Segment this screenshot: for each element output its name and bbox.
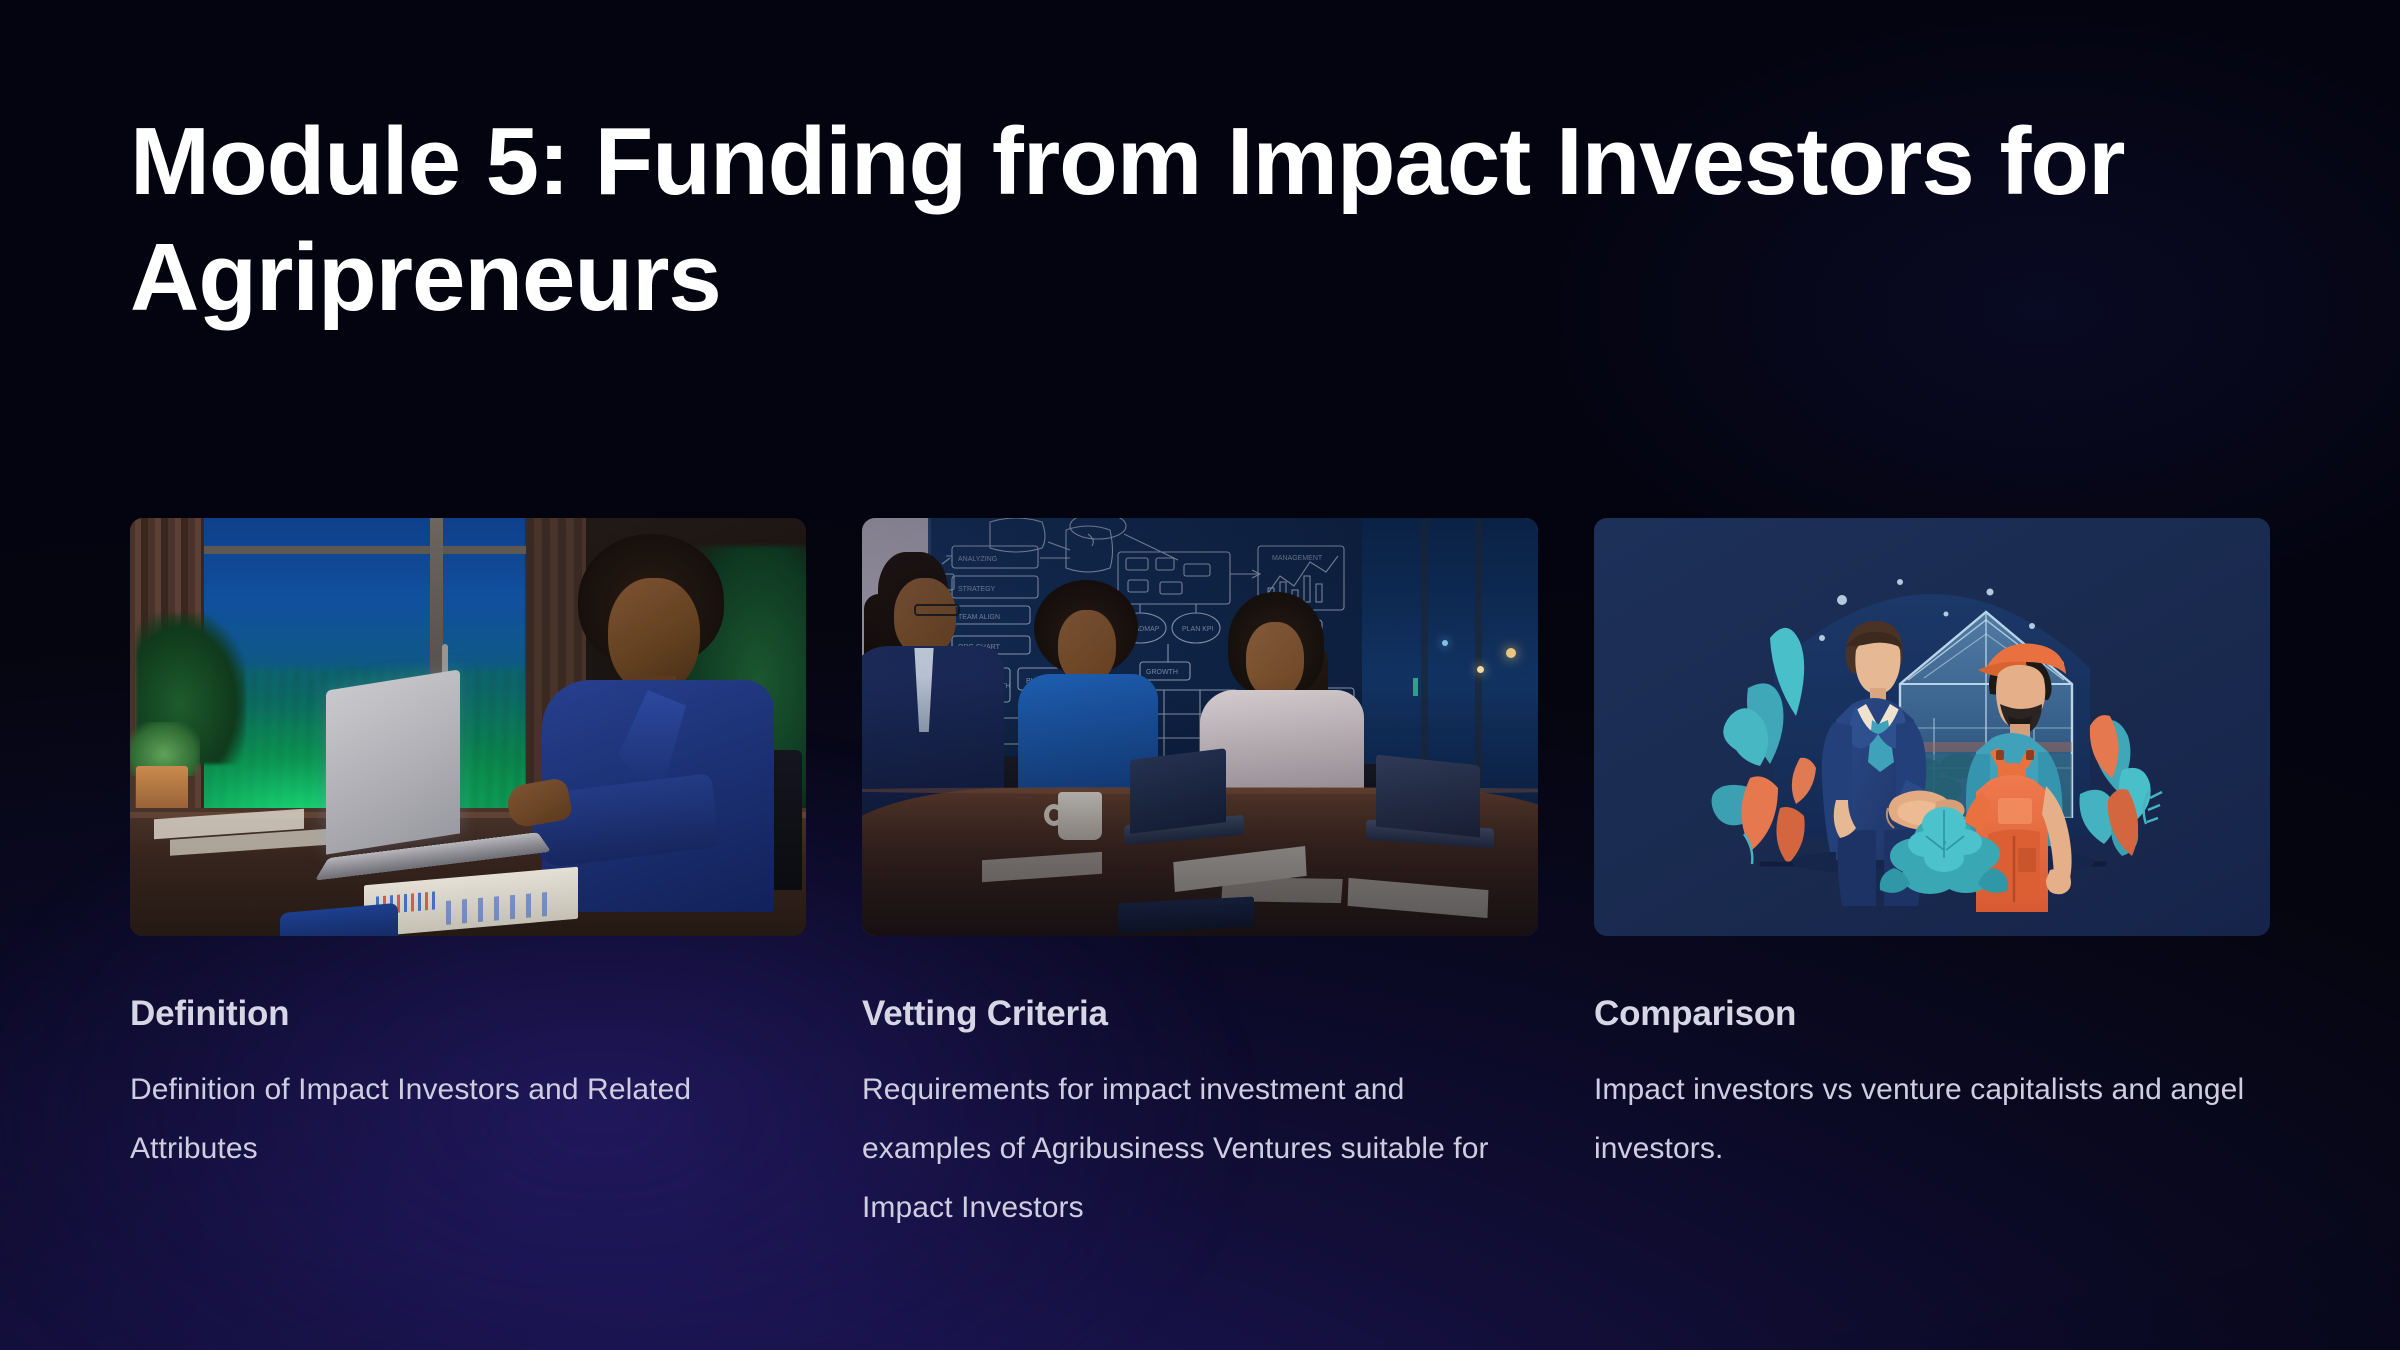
photo-shading-overlay (862, 518, 1538, 936)
page-title: Module 5: Funding from Impact Investors … (130, 104, 2130, 336)
handshake-greenhouse-illustration (1594, 518, 2270, 936)
card-comparison[interactable]: Comparison Impact investors vs venture c… (1594, 518, 2270, 1237)
card-description: Definition of Impact Investors and Relat… (130, 1060, 806, 1178)
card-title: Definition (130, 994, 806, 1034)
laptop-screen (326, 669, 460, 854)
slide-root: Module 5: Funding from Impact Investors … (0, 0, 2400, 1350)
card-image-team-meeting-whiteboard: ANALYZING STRATEGY TEAM ALIGN ORG CHART … (862, 518, 1538, 936)
window-frame-top (182, 546, 526, 554)
card-title: Vetting Criteria (862, 994, 1538, 1034)
card-title: Comparison (1594, 994, 2270, 1034)
card-image-woman-working-on-laptop (130, 518, 806, 936)
card-definition[interactable]: Definition Definition of Impact Investor… (130, 518, 806, 1237)
card-description: Requirements for impact investment and e… (862, 1060, 1538, 1237)
card-image-investor-farmer-handshake (1594, 518, 2270, 936)
card-vetting-criteria[interactable]: ANALYZING STRATEGY TEAM ALIGN ORG CHART … (862, 518, 1538, 1237)
cards-row: Definition Definition of Impact Investor… (130, 518, 2272, 1237)
card-description: Impact investors vs venture capitalists … (1594, 1060, 2270, 1178)
person-businesswoman (526, 534, 782, 896)
